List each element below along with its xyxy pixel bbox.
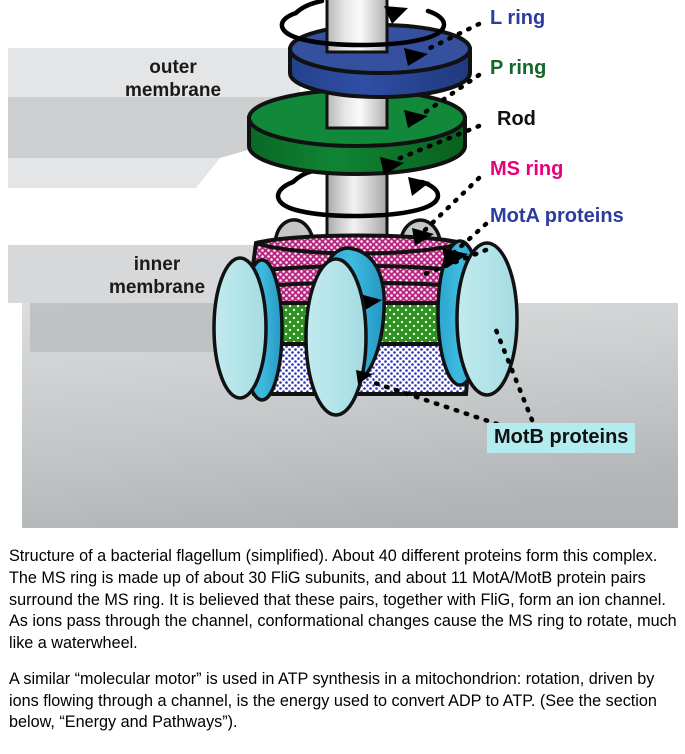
caption-paragraph-1: Structure of a bacterial flagellum (simp… [9,546,677,655]
outer-membrane-label-line1: outer [78,56,268,79]
rotation-arrowhead-lower [408,177,430,196]
caption-paragraph-2: A similar “molecular motor” is used in A… [9,669,677,734]
label-l-ring: L ring [490,7,545,30]
outer-membrane-label-line2: membrane [78,79,268,102]
inner-membrane-right [520,293,678,350]
outer-membrane-label: outer membrane [78,56,268,102]
label-rod: Rod [497,108,536,131]
label-mota-proteins: MotA proteins [490,205,624,228]
flagellum-diagram: outer membrane inner membrane L ring P r… [0,0,685,535]
inner-membrane-label-line2: membrane [62,276,252,299]
inner-membrane-label: inner membrane [62,253,252,299]
inner-membrane-label-line1: inner [62,253,252,276]
label-motb-proteins: MotB proteins [487,423,635,453]
page-root: outer membrane inner membrane L ring P r… [0,0,685,754]
label-ms-ring: MS ring [490,158,563,181]
figure-caption: Structure of a bacterial flagellum (simp… [9,546,677,734]
label-p-ring: P ring [490,57,546,80]
